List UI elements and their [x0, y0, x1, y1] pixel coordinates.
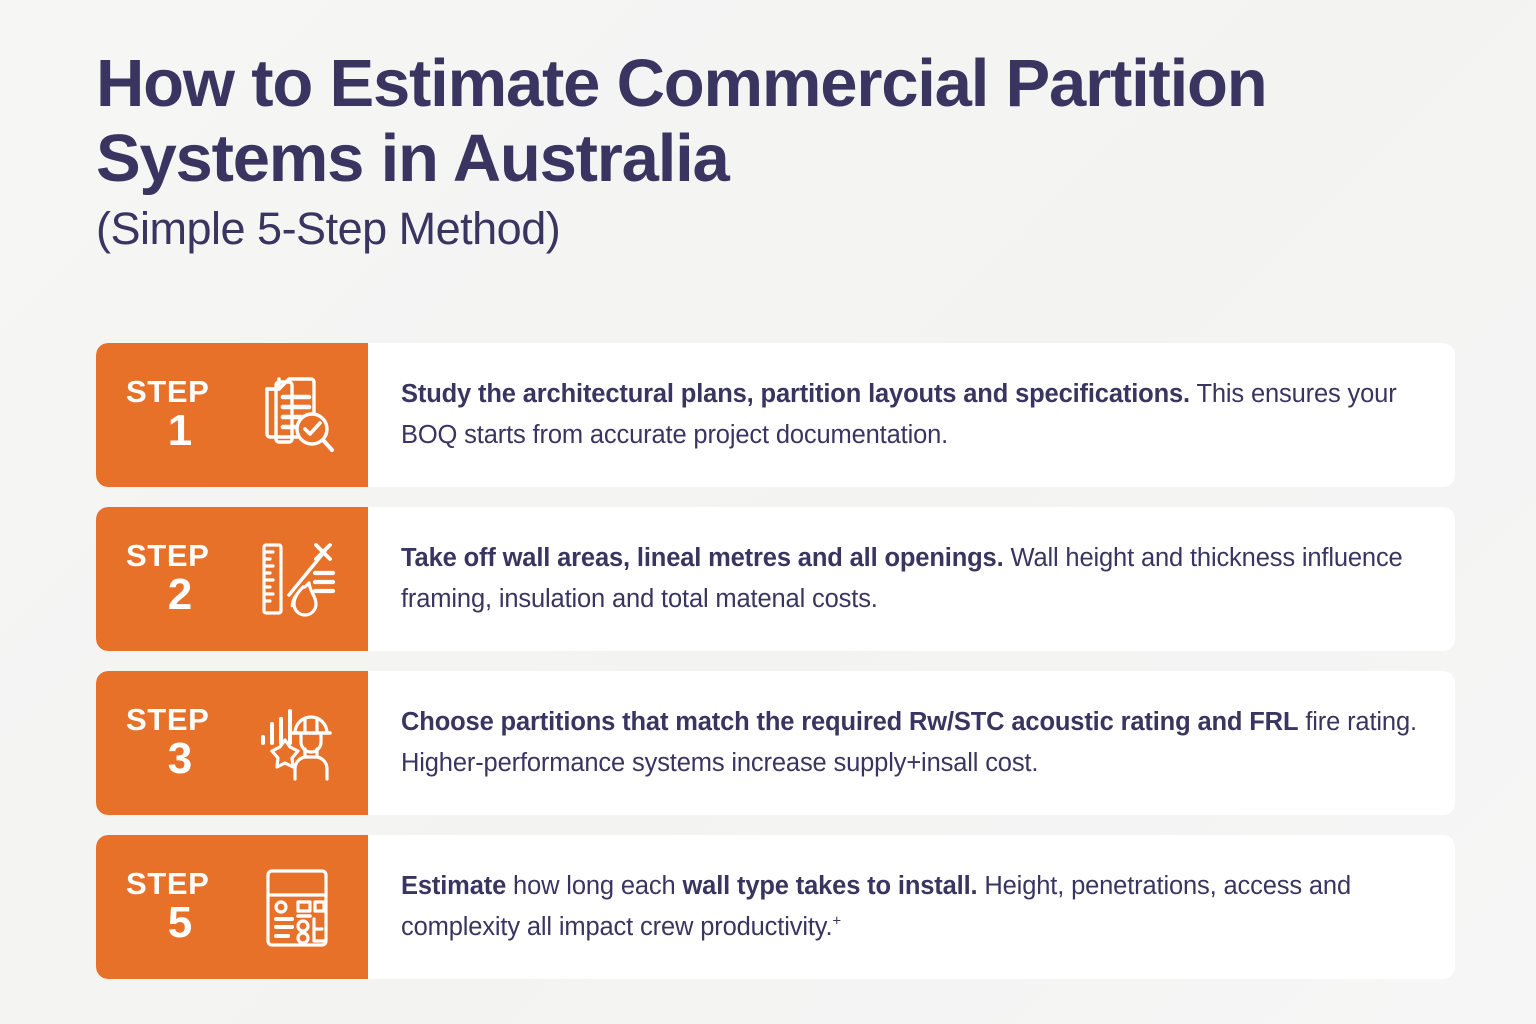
worker-acoustic-rating-icon — [240, 697, 354, 789]
step-label-wrap-5: STEP 5 — [126, 868, 234, 947]
step-suffix-5: + — [832, 913, 841, 930]
step-number-5: 5 — [168, 901, 192, 946]
step-body-5: Estimate how long each wall type takes t… — [368, 835, 1455, 979]
step-lead2-5: wall type takes to install. — [682, 872, 977, 900]
step-text-3: Choose partitions that match the require… — [401, 702, 1425, 785]
step-text-2: Take off wall areas, lineal metres and a… — [401, 538, 1425, 621]
page-title: How to Estimate Commercial Partition Sys… — [96, 46, 1396, 196]
step-badge-1: STEP 1 — [96, 343, 368, 487]
header: How to Estimate Commercial Partition Sys… — [96, 46, 1396, 252]
step-word-2: STEP — [126, 540, 209, 573]
step-text-1: Study the architectural plans, partition… — [401, 374, 1425, 457]
step-card-3: STEP 3 — [96, 671, 1455, 815]
step-lead-1: Study the architectural plans, partition… — [401, 380, 1190, 408]
step-word-1: STEP — [126, 376, 209, 409]
infographic-page: How to Estimate Commercial Partition Sys… — [0, 0, 1536, 1024]
step-badge-2: STEP 2 — [96, 507, 368, 651]
step-word-3: STEP — [126, 704, 209, 737]
step-badge-5: STEP 5 — [96, 835, 368, 979]
ruler-measure-flame-icon — [240, 533, 354, 625]
step-body-3: Choose partitions that match the require… — [368, 671, 1455, 815]
step-lead-3: Choose partitions that match the require… — [401, 708, 1298, 736]
calculator-icon — [240, 861, 354, 953]
step-card-5: STEP 5 — [96, 835, 1455, 979]
step-body-2: Take off wall areas, lineal metres and a… — [368, 507, 1455, 651]
step-label-wrap-3: STEP 3 — [126, 704, 234, 783]
step-word-5: STEP — [126, 868, 209, 901]
document-search-check-icon — [240, 369, 354, 461]
step-lead-2: Take off wall areas, lineal metres and a… — [401, 544, 1004, 572]
step-card-1: STEP 1 — [96, 343, 1455, 487]
steps-list: STEP 1 — [96, 343, 1455, 999]
step-badge-3: STEP 3 — [96, 671, 368, 815]
step-lead-5: Estimate — [401, 872, 506, 900]
step-number-3: 3 — [168, 737, 192, 782]
step-card-2: STEP 2 — [96, 507, 1455, 651]
step-text-5: Estimate how long each wall type takes t… — [401, 866, 1425, 949]
step-label-wrap-2: STEP 2 — [126, 540, 234, 619]
step-number-2: 2 — [168, 573, 192, 618]
step-rest-5: how long each — [506, 872, 682, 900]
step-number-1: 1 — [168, 409, 192, 454]
step-body-1: Study the architectural plans, partition… — [368, 343, 1455, 487]
page-subtitle: (Simple 5-Step Method) — [96, 205, 1396, 252]
step-label-wrap-1: STEP 1 — [126, 376, 234, 455]
